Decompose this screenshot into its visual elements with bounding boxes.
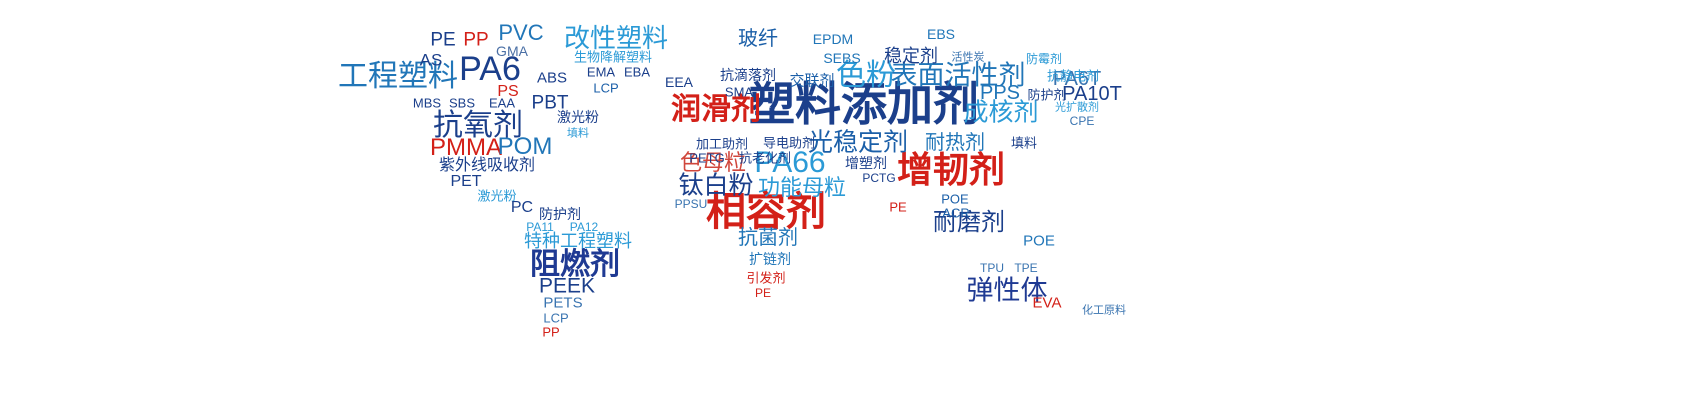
word-cloud-term[interactable]: 交联剂	[789, 74, 834, 89]
word-cloud-term[interactable]: EBS	[927, 27, 955, 41]
word-cloud-term[interactable]: EEA	[665, 75, 693, 89]
word-cloud-term[interactable]: EAA	[489, 97, 515, 110]
word-cloud-term[interactable]: 防霉剂	[1026, 53, 1062, 65]
word-cloud-term[interactable]: EPDM	[813, 32, 853, 46]
word-cloud-term[interactable]: 激光粉	[557, 110, 599, 124]
word-cloud-term[interactable]: PVC	[498, 22, 543, 44]
word-cloud-term[interactable]: 紫外线吸收剂	[439, 158, 535, 174]
word-cloud-term[interactable]: SBS	[449, 97, 475, 110]
word-cloud-term[interactable]: 活性炭	[952, 53, 985, 64]
word-cloud-term[interactable]: 光稳定剂	[808, 131, 908, 156]
word-cloud-term[interactable]: 耐热剂	[925, 133, 985, 153]
word-cloud-term[interactable]: 防护剂	[1027, 89, 1066, 102]
word-cloud-canvas: 塑料添加剂相容剂增韧剂阻燃剂润滑剂工程塑料抗氧剂PA6PA66色粉表面活性剂光稳…	[0, 0, 1707, 400]
word-cloud-term[interactable]: 抗老化剂	[739, 152, 791, 165]
word-cloud-term[interactable]: TPU	[980, 262, 1004, 274]
word-cloud-term[interactable]: CPE	[1070, 115, 1095, 127]
word-cloud-term[interactable]: 导电助剂	[763, 137, 815, 150]
word-cloud-term[interactable]: 钛白粉	[678, 174, 753, 199]
word-cloud-term[interactable]: PE	[755, 287, 771, 299]
word-cloud-term[interactable]: 抗菌剂	[738, 228, 798, 248]
word-cloud-term[interactable]: ABS	[537, 71, 567, 86]
word-cloud-term[interactable]: 生物降解塑料	[574, 51, 652, 64]
word-cloud-term[interactable]: SEBS	[823, 51, 860, 65]
word-cloud-term[interactable]: PC	[511, 200, 533, 216]
word-cloud-term[interactable]: PPS	[980, 83, 1020, 103]
word-cloud-term[interactable]: 润滑剂	[671, 95, 761, 125]
word-cloud-term[interactable]: 扩链剂	[749, 252, 791, 266]
word-cloud-term[interactable]: LCP	[543, 312, 568, 325]
word-cloud-term[interactable]: PETS	[543, 296, 582, 311]
word-cloud-term[interactable]: 填料	[567, 129, 589, 140]
word-cloud-term[interactable]: LCP	[593, 82, 618, 95]
word-cloud-term[interactable]: PP	[542, 326, 559, 339]
word-cloud-term[interactable]: PA11	[526, 221, 554, 233]
word-cloud-term[interactable]: PE	[430, 31, 455, 50]
word-cloud-term[interactable]: 稳定剂	[884, 47, 938, 65]
word-cloud-term[interactable]: EVA	[1033, 296, 1062, 311]
word-cloud-term[interactable]: PP	[463, 31, 488, 50]
word-cloud-term[interactable]: EMA	[587, 66, 615, 79]
word-cloud-term[interactable]: ACR	[942, 207, 969, 220]
word-cloud-term[interactable]: 抗滴落剂	[720, 68, 776, 82]
word-cloud-term[interactable]: 填料	[1011, 137, 1037, 150]
word-cloud-term[interactable]: POE	[941, 193, 968, 206]
word-cloud-term[interactable]: PA12	[570, 221, 598, 233]
word-cloud-term[interactable]: POM	[498, 135, 553, 159]
word-cloud-term[interactable]: PPSU	[675, 198, 708, 210]
word-cloud-term[interactable]: 增韧剂	[897, 152, 1005, 188]
word-cloud-term[interactable]: MBS	[413, 97, 441, 110]
word-cloud-term[interactable]: EBA	[624, 66, 650, 79]
word-cloud-term[interactable]: 改性塑料	[564, 25, 668, 51]
word-cloud-term[interactable]: PE	[889, 201, 906, 214]
word-cloud-term[interactable]: PETG	[689, 152, 724, 165]
word-cloud-term[interactable]: 特种工程塑料	[524, 232, 632, 250]
word-cloud-term[interactable]: POE	[1023, 234, 1055, 249]
word-cloud-term[interactable]: 引发剂	[746, 272, 785, 285]
word-cloud-term[interactable]: 成核剂	[963, 101, 1038, 126]
word-cloud-term[interactable]: 光扩散剂	[1055, 103, 1099, 114]
word-cloud-term[interactable]: 防护剂	[539, 207, 581, 221]
word-cloud-term[interactable]: SMA	[725, 86, 753, 99]
word-cloud-term[interactable]: 抗静电剂	[1047, 70, 1099, 83]
word-cloud-term[interactable]: GMA	[496, 44, 528, 58]
word-cloud-term[interactable]: TPE	[1014, 262, 1037, 274]
word-cloud-term[interactable]: 功能母粒	[758, 177, 846, 199]
word-cloud-term[interactable]: 加工助剂	[696, 138, 748, 151]
word-cloud-term[interactable]: PEEK	[539, 276, 595, 297]
word-cloud-term[interactable]: 增塑剂	[845, 156, 887, 170]
word-cloud-term[interactable]: PCTG	[862, 172, 895, 184]
word-cloud-term[interactable]: 玻纤	[738, 29, 778, 49]
word-cloud-term[interactable]: AS	[420, 52, 443, 69]
word-cloud-term[interactable]: 化工原料	[1082, 306, 1126, 317]
